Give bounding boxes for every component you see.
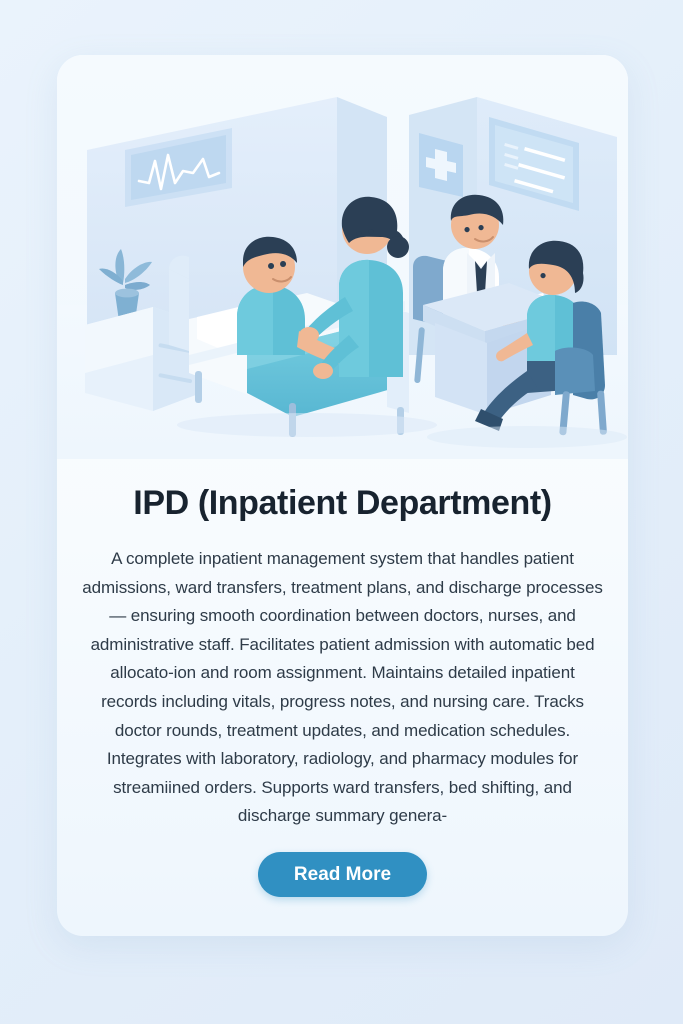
card-content: IPD (Inpatient Department) A complete in… xyxy=(57,459,628,897)
read-more-button[interactable]: Read More xyxy=(258,852,427,897)
feature-card: IPD (Inpatient Department) A complete in… xyxy=(57,55,628,936)
card-description: A complete inpatient management system t… xyxy=(71,545,614,831)
illustration xyxy=(57,55,628,459)
hospital-ward-illustration xyxy=(57,55,628,459)
page-title: IPD (Inpatient Department) xyxy=(71,484,614,523)
button-row: Read More xyxy=(71,852,614,897)
